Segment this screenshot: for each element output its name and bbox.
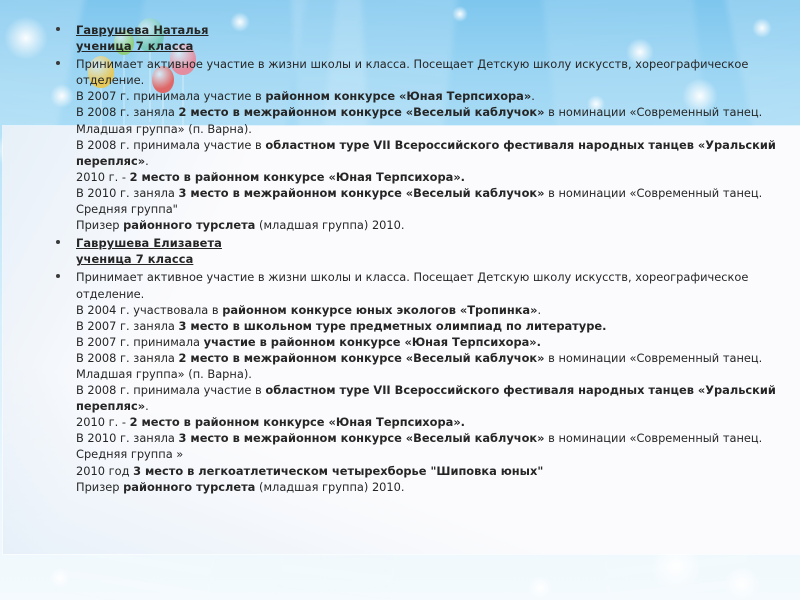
text-line: Призер районного турслета (младшая групп…: [76, 479, 776, 495]
text-line: В 2008 г. заняла 2 место в межрайонном к…: [76, 350, 776, 382]
text-line: 2010 год 3 место в легкоатлетическом чет…: [76, 463, 776, 479]
text-line: Гаврушева Елизавета: [76, 235, 776, 251]
bokeh-light-12: [50, 568, 70, 588]
text-line: В 2007 г. принимала участие в районном к…: [76, 88, 776, 104]
text-line: 2010 г. - 2 место в районном конкурсе «Ю…: [76, 414, 776, 430]
bokeh-light-10: [724, 566, 760, 600]
text-line: В 2008 г. принимала участие в областном …: [76, 382, 776, 414]
bokeh-light-11: [528, 576, 552, 600]
student-1-details-text: Принимает активное участие в жизни школы…: [76, 56, 776, 233]
text-line: Призер районного турслета (младшая групп…: [76, 217, 776, 233]
text-line: 2010 г. - 2 место в районном конкурсе «Ю…: [76, 169, 776, 185]
student-2-name-text: Гаврушева Елизаветаученица 7 класса: [76, 235, 776, 267]
text-line: В 2008 г. заняла 2 место в межрайонном к…: [76, 104, 776, 136]
student-1-details: Принимает активное участие в жизни школы…: [52, 56, 776, 233]
bullet-icon: [56, 240, 60, 244]
text-line: В 2007 г. принимала участие в районном к…: [76, 334, 776, 350]
text-line: В 2010 г. заняла 3 место в межрайонном к…: [76, 430, 776, 462]
text-line: В 2004 г. участвовала в районном конкурс…: [76, 302, 776, 318]
student-2-details: Принимает активное участие в жизни школы…: [52, 269, 776, 494]
text-line: ученица 7 класса: [76, 251, 776, 267]
text-line: В 2007 г. заняла 3 место в школьном туре…: [76, 318, 776, 334]
student-1-name-text: Гаврушева Натальяученица 7 класса: [76, 22, 776, 54]
student-1-name: Гаврушева Натальяученица 7 класса: [52, 22, 776, 54]
text-line: Гаврушева Наталья: [76, 22, 776, 38]
text-line: В 2010 г. заняла 3 место в межрайонном к…: [76, 185, 776, 217]
text-line: Принимает активное участие в жизни школы…: [76, 269, 776, 301]
slide-canvas: Гаврушева Натальяученица 7 классаПринима…: [0, 0, 800, 600]
bullet-icon: [56, 27, 60, 31]
bullet-icon: [56, 61, 60, 65]
text-line: Принимает активное участие в жизни школы…: [76, 56, 776, 88]
text-line: В 2008 г. принимала участие в областном …: [76, 137, 776, 169]
student-2-name: Гаврушева Елизаветаученица 7 класса: [52, 235, 776, 267]
student-2-details-text: Принимает активное участие в жизни школы…: [76, 269, 776, 494]
slide-text-body: Гаврушева Натальяученица 7 классаПринима…: [0, 0, 800, 495]
bullet-icon: [56, 274, 60, 278]
text-line: ученица 7 класса: [76, 38, 776, 54]
